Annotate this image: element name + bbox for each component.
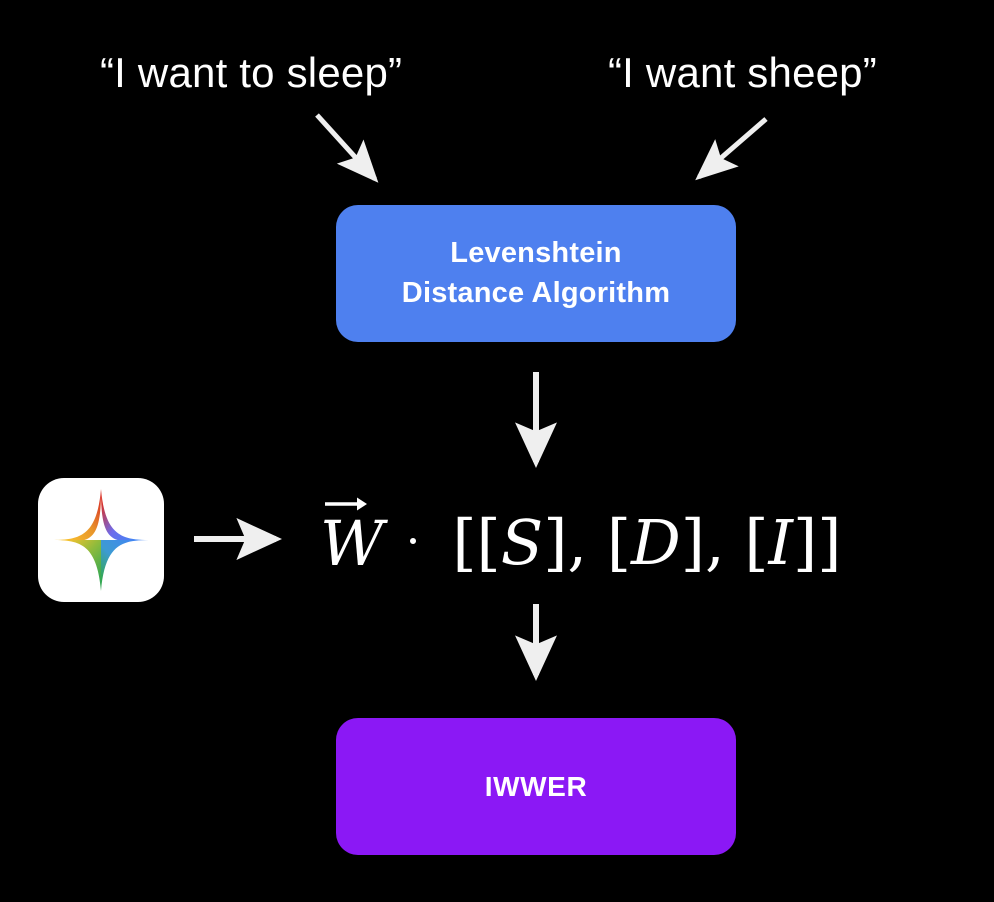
matrix-open-bracket: [[: [452, 506, 500, 579]
diagram-canvas: “I want to sleep” “I want sheep”: [0, 0, 994, 902]
insertion-symbol: I: [769, 506, 794, 579]
dot-product-operator: ·: [384, 518, 427, 564]
iwwer-output-label: IWWER: [485, 768, 588, 806]
input-utterance-left: “I want to sleep”: [100, 52, 402, 94]
substitution-symbol: S: [501, 506, 543, 579]
arrow-left-input-to-algorithm: [317, 115, 375, 179]
input-utterance-right: “I want sheep”: [608, 52, 877, 94]
deletion-symbol: D: [631, 506, 681, 579]
weight-vector: W: [320, 499, 384, 575]
levenshtein-algorithm-box[interactable]: Levenshtein Distance Algorithm: [336, 205, 736, 342]
edit-operation-matrix: [[S], [D], [I]]: [426, 500, 841, 574]
weighted-edit-distance-formula: W · [[S], [D], [I]]: [320, 487, 841, 587]
weight-vector-symbol: W: [320, 507, 384, 580]
matrix-separator-1: ], [: [543, 506, 631, 579]
matrix-close-bracket: ]]: [793, 506, 841, 579]
gemini-sparkle-glyph: [49, 488, 153, 592]
levenshtein-algorithm-label: Levenshtein Distance Algorithm: [402, 234, 670, 312]
gemini-sparkle-icon[interactable]: [38, 478, 164, 602]
iwwer-output-box[interactable]: IWWER: [336, 718, 736, 855]
arrow-right-input-to-algorithm: [699, 119, 766, 177]
matrix-separator-2: ], [: [681, 506, 769, 579]
vector-arrow-icon: [324, 493, 368, 511]
